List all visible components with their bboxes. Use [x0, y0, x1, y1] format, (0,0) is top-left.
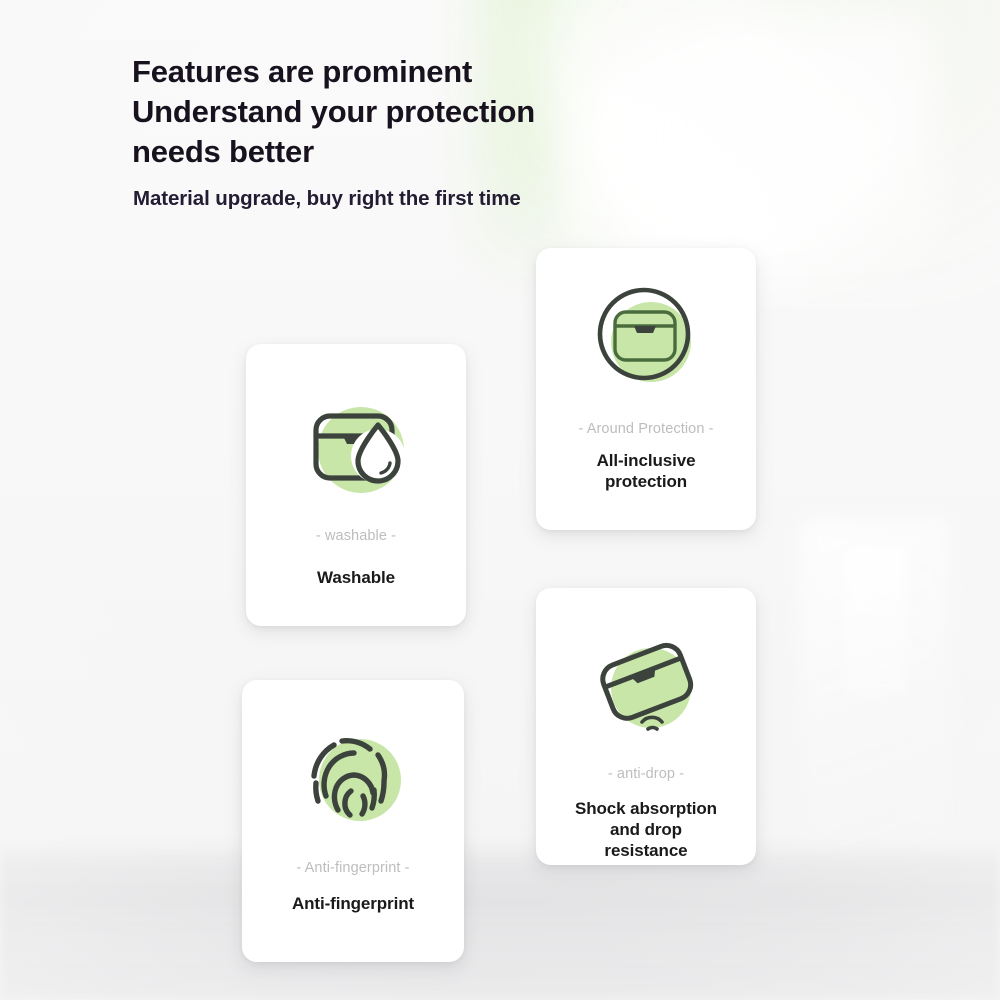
feature-card-washable[interactable]: - washable - Washable	[246, 344, 466, 626]
fingerprint-icon	[296, 722, 411, 837]
page-headline: Features are prominent Understand your p…	[132, 52, 732, 172]
feature-title: Shock absorption and drop resistance	[575, 798, 717, 861]
feature-caption: - Around Protection -	[578, 420, 713, 438]
feature-title: Anti-fingerprint	[292, 893, 414, 914]
infographic-stage: Features are prominent Understand your p…	[0, 0, 1000, 1000]
feature-caption: - anti-drop -	[608, 765, 684, 783]
case-waterdrop-icon	[299, 394, 414, 509]
tilted-case-impact-icon	[589, 630, 704, 745]
feature-caption: - washable -	[316, 527, 396, 545]
feature-caption: - Anti-fingerprint -	[296, 859, 409, 877]
feature-card-anti-fingerprint[interactable]: - Anti-fingerprint - Anti-fingerprint	[242, 680, 464, 962]
case-in-circle-icon	[589, 282, 704, 397]
feature-card-around-protection[interactable]: - Around Protection - All-inclusive prot…	[536, 248, 756, 530]
feature-card-anti-drop[interactable]: - anti-drop - Shock absorption and drop …	[536, 588, 756, 865]
feature-title: Washable	[317, 567, 395, 588]
page-subheadline: Material upgrade, buy right the first ti…	[133, 186, 521, 212]
feature-title: All-inclusive protection	[597, 450, 696, 492]
